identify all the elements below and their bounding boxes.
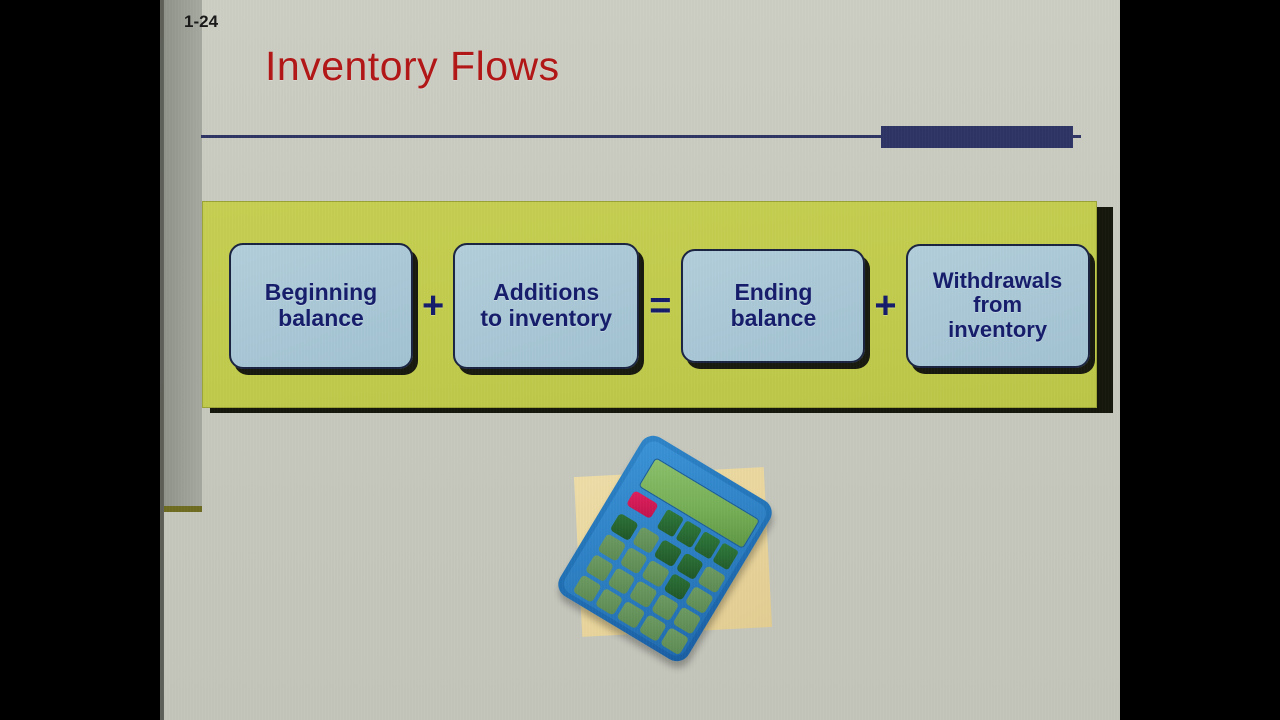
calculator-illustration (530, 440, 830, 670)
flow-box-ending-balance-line2: balance (731, 305, 817, 331)
slide-number: 1-24 (184, 12, 218, 32)
flow-box-additions-label: Additions to inventory (470, 280, 622, 332)
flow-box-ending-balance[interactable]: Ending balance (681, 249, 865, 363)
page-title: Inventory Flows (265, 43, 560, 90)
flow-box-withdrawals-line2: from (973, 292, 1022, 317)
flow-box-ending-balance-label: Ending balance (721, 280, 827, 332)
flow-box-beginning-balance-label: Beginning balance (255, 280, 387, 332)
flow-box-additions-line1: Additions (493, 279, 599, 305)
flow-box-ending-balance-wrap: Ending balance (681, 249, 865, 363)
flow-box-beginning-balance-line2: balance (278, 305, 364, 331)
presentation-slide: 1-24 Inventory Flows Beginning balance + (160, 0, 1120, 720)
slide-left-band-olive-foot (164, 506, 202, 512)
operator-plus-2: + (865, 287, 905, 325)
flow-box-additions-to-inventory[interactable]: Additions to inventory (453, 243, 639, 369)
flow-box-beginning-balance[interactable]: Beginning balance (229, 243, 413, 369)
flow-box-additions-wrap: Additions to inventory (453, 243, 639, 369)
flow-panel: Beginning balance + Additions to invento… (202, 201, 1097, 408)
inventory-flow-equation: Beginning balance + Additions to invento… (203, 202, 1098, 409)
operator-equals: = (639, 287, 681, 325)
flow-box-ending-balance-line1: Ending (734, 279, 812, 305)
flow-box-withdrawals-label: Withdrawals from inventory (923, 269, 1072, 343)
flow-box-additions-line2: to inventory (480, 305, 612, 331)
flow-box-withdrawals-from-inventory[interactable]: Withdrawals from inventory (906, 244, 1090, 368)
flow-box-beginning-balance-wrap: Beginning balance (229, 243, 413, 369)
flow-box-beginning-balance-line1: Beginning (265, 279, 377, 305)
operator-plus-1: + (413, 287, 453, 325)
flow-box-withdrawals-wrap: Withdrawals from inventory (906, 244, 1090, 368)
screen-letterbox: 1-24 Inventory Flows Beginning balance + (0, 0, 1280, 720)
flow-box-withdrawals-line3: inventory (948, 317, 1047, 342)
flow-box-withdrawals-line1: Withdrawals (933, 268, 1062, 293)
slide-left-gray-band (164, 0, 202, 508)
title-navy-accent-block (881, 126, 1073, 148)
